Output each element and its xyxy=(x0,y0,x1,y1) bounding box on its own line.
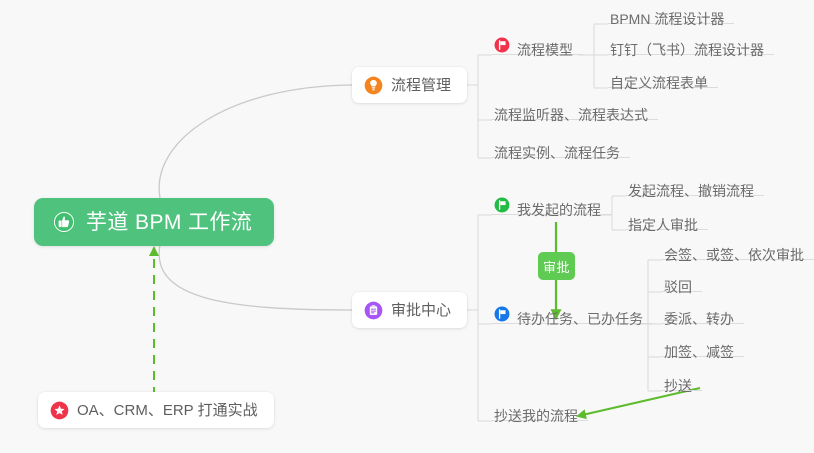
node-todo-done-task-label: 待办任务、已办任务 xyxy=(517,312,643,326)
node-my-started-process-label: 我发起的流程 xyxy=(517,203,601,217)
node-instance-task[interactable]: 流程实例、流程任务 xyxy=(492,129,630,158)
node-my-started-process[interactable]: 我发起的流程 xyxy=(492,186,611,215)
node-countersign-label: 会签、或签、依次审批 xyxy=(664,248,804,262)
wire-root-to-process-management xyxy=(159,85,352,198)
approve-badge-label: 审批 xyxy=(543,257,570,276)
node-custom-process-form[interactable]: 自定义流程表单 xyxy=(608,59,718,88)
branch-process-management[interactable]: 流程管理 xyxy=(352,67,467,103)
node-custom-process-form-label: 自定义流程表单 xyxy=(610,76,708,90)
node-cc-to-me-process[interactable]: 抄送我的流程 xyxy=(492,392,588,421)
node-delegate-transfer-label: 委派、转办 xyxy=(664,312,734,326)
bottom-note-node[interactable]: OA、CRM、ERP 打通实战 xyxy=(38,392,274,428)
clipboard-icon xyxy=(364,301,383,320)
mindmap-canvas: 芋道 BPM 工作流 流程管理 流程模型 BPMN 流程设计器 钉钉（飞书）流 xyxy=(0,0,814,453)
approve-badge[interactable]: 审批 xyxy=(538,252,575,280)
node-start-cancel-process[interactable]: 发起流程、撤销流程 xyxy=(626,167,764,196)
wire-root-to-approval-center xyxy=(159,245,352,310)
node-bpmn-designer-label: BPMN 流程设计器 xyxy=(610,12,724,26)
node-dingtalk-feishu-designer[interactable]: 钉钉（飞书）流程设计器 xyxy=(608,26,774,55)
flag-icon xyxy=(494,197,510,213)
node-delegate-transfer[interactable]: 委派、转办 xyxy=(662,295,744,324)
root-node[interactable]: 芋道 BPM 工作流 xyxy=(34,198,274,246)
branch-process-management-label: 流程管理 xyxy=(391,78,451,93)
thumbs-up-icon xyxy=(52,210,76,234)
node-listener-expression-label: 流程监听器、流程表达式 xyxy=(494,108,648,122)
branch-approval-center[interactable]: 审批中心 xyxy=(352,292,467,328)
node-todo-done-task[interactable]: 待办任务、已办任务 xyxy=(492,295,653,324)
node-process-model-label: 流程模型 xyxy=(517,43,573,57)
lightbulb-icon xyxy=(364,76,383,95)
node-countersign[interactable]: 会签、或签、依次审批 xyxy=(662,231,814,260)
node-reject-label: 驳回 xyxy=(664,280,692,294)
flag-icon xyxy=(494,37,510,53)
root-label: 芋道 BPM 工作流 xyxy=(86,212,252,233)
branch-approval-center-label: 审批中心 xyxy=(391,303,451,318)
node-process-model[interactable]: 流程模型 xyxy=(492,26,583,55)
bottom-note-label: OA、CRM、ERP 打通实战 xyxy=(77,403,258,418)
flag-icon xyxy=(494,306,510,322)
node-add-remove-sign-label: 加签、减签 xyxy=(664,345,734,359)
node-reject[interactable]: 驳回 xyxy=(662,263,702,292)
node-dingtalk-feishu-designer-label: 钉钉（飞书）流程设计器 xyxy=(610,43,764,57)
node-bpmn-designer[interactable]: BPMN 流程设计器 xyxy=(608,0,734,24)
node-add-remove-sign[interactable]: 加签、减签 xyxy=(662,328,744,357)
node-listener-expression[interactable]: 流程监听器、流程表达式 xyxy=(492,91,658,120)
node-assignee-approval[interactable]: 指定人审批 xyxy=(626,201,708,230)
node-assignee-approval-label: 指定人审批 xyxy=(628,218,698,232)
node-start-cancel-process-label: 发起流程、撤销流程 xyxy=(628,184,754,198)
node-carbon-copy[interactable]: 抄送 xyxy=(662,362,702,391)
node-cc-to-me-process-label: 抄送我的流程 xyxy=(494,409,578,423)
node-carbon-copy-label: 抄送 xyxy=(664,379,692,393)
star-icon xyxy=(50,401,69,420)
node-instance-task-label: 流程实例、流程任务 xyxy=(494,146,620,160)
